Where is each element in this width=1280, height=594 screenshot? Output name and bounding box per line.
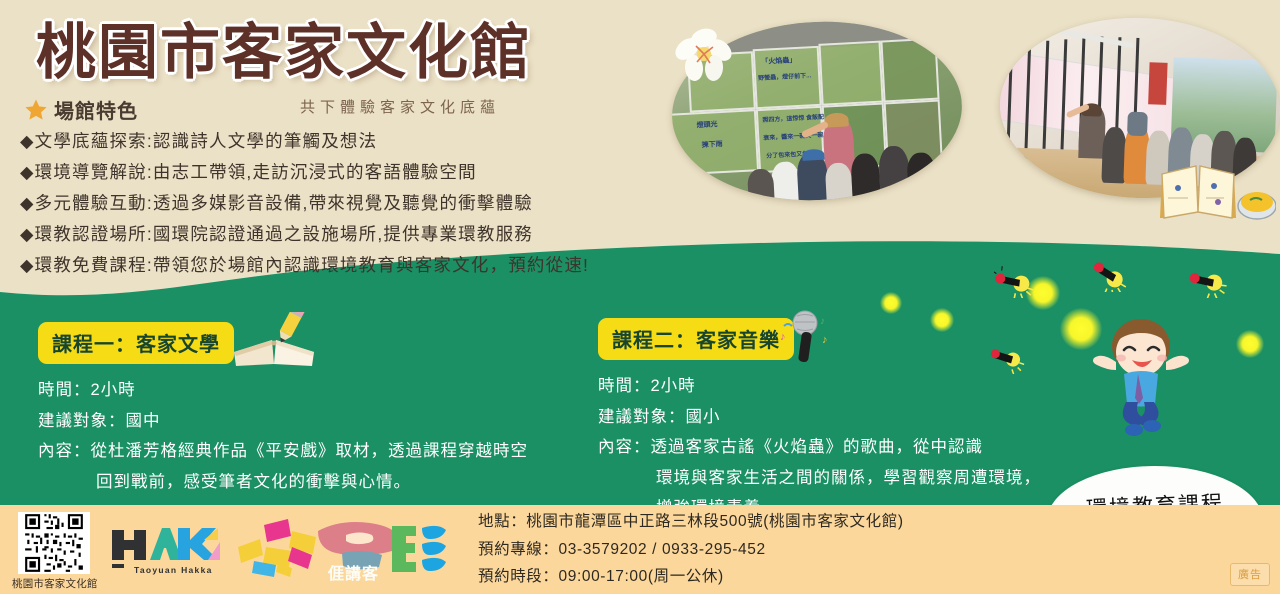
page-title: 桃園市客家文化館 (36, 22, 532, 85)
book-and-bowl-icon (1158, 160, 1276, 222)
course-1-badge: 課程一：客家文學 (38, 322, 234, 364)
poster-root: 桃園市客家文化館 共下體驗客家文化底蘊 場館特色 ◆文學底蘊探索:認識詩人文學的… (0, 0, 1280, 594)
course-2-lines: 時間：2小時 建議對象：國小 內容：透過客家古謠《火焰蟲》的歌曲，從中認識 環境… (598, 378, 1068, 517)
logo-ee (388, 522, 450, 576)
logo-colorful-blocks (234, 517, 322, 579)
svg-text:♪: ♪ (780, 331, 786, 343)
feature-item: ◆文學底蘊探索:認識詩人文學的筆觸及想法 (20, 133, 720, 151)
course-1-audience: 建議對象：國中 (38, 413, 578, 430)
feature-item: ◆環教免費課程:帶領您於場館內認識環境教育與客家文化，預約從速! (20, 257, 720, 275)
plumeria-flower-icon (672, 24, 736, 84)
firefly-icon (1090, 258, 1130, 292)
course-2-audience: 建議對象：國小 (598, 409, 1068, 426)
qr-caption: 桃園市客家文化館 (12, 576, 96, 591)
contact-info: 地點：桃園市龍潭區中正路三林段500號(桃園市客家文化館) 預約專線：03-35… (478, 514, 904, 594)
firefly-icon (1188, 264, 1228, 298)
svg-text:𠊎講客: 𠊎講客 (327, 564, 379, 581)
feature-item: ◆環境導覽解說:由志工帶領,走訪沉浸式的客語體驗空間 (20, 164, 720, 182)
course-1-time: 時間：2小時 (38, 382, 578, 399)
course-1-content-cont: 回到戰前，感受筆者文化的衝擊與心情。 (38, 474, 578, 491)
svg-text:Taoyuan Hakka: Taoyuan Hakka (134, 565, 213, 575)
course-2-badge: 課程二：客家音樂 (598, 318, 794, 360)
contact-hours: 預約時段：09:00-17:00(周一公休) (478, 569, 904, 585)
svg-text:♪: ♪ (822, 334, 828, 346)
star-icon (24, 98, 48, 122)
contact-phone: 預約專線：03-3579202 / 0933-295-452 (478, 542, 904, 558)
footer-bar: 桃園市客家文化館 Taoyuan Hakka (0, 505, 1280, 594)
microphone-icon: ♪ ♪ ♪ (778, 310, 838, 366)
firefly-icon (988, 340, 1028, 374)
ad-label: 廣告 (1230, 563, 1270, 586)
course-2-content: 內容：透過客家古謠《火焰蟲》的歌曲，從中認識 (598, 439, 1068, 456)
course-2-time: 時間：2小時 (598, 378, 1068, 395)
qr-code-image[interactable] (18, 512, 90, 574)
feature-list: ◆文學底蘊探索:認識詩人文學的筆觸及想法 ◆環境導覽解說:由志工帶領,走訪沉浸式… (20, 133, 720, 288)
svg-text:♪: ♪ (820, 316, 825, 327)
firefly-icon (994, 264, 1034, 298)
contact-address: 地點：桃園市龍潭區中正路三林段500號(桃園市客家文化館) (478, 514, 904, 530)
feature-item: ◆環教認證場所:國環院認證通過之設施場所,提供專業環教服務 (20, 226, 720, 244)
qr-code-block: 桃園市客家文化館 (12, 512, 96, 591)
course-1-content: 內容：從杜潘芳格經典作品《平安戲》取材，透過課程穿越時空 (38, 443, 578, 460)
page-subtitle: 共下體驗客家文化底蘊 (300, 96, 500, 117)
course-1-lines: 時間：2小時 建議對象：國中 內容：從杜潘芳格經典作品《平安戲》取材，透過課程穿… (38, 382, 578, 490)
feature-heading-label: 場館特色 (54, 95, 138, 124)
boy-character-icon (1088, 312, 1194, 442)
book-pencil-icon (228, 312, 320, 368)
logo-hakka: Taoyuan Hakka (108, 522, 226, 578)
feature-item: ◆多元體驗互動:透過多媒影音設備,帶來視覺及聽覺的衝擊體驗 (20, 195, 720, 213)
feature-heading: 場館特色 (24, 95, 138, 124)
course-2-content-cont: 環境與客家生活之間的關係，學習觀察周遭環境， (598, 470, 1068, 487)
